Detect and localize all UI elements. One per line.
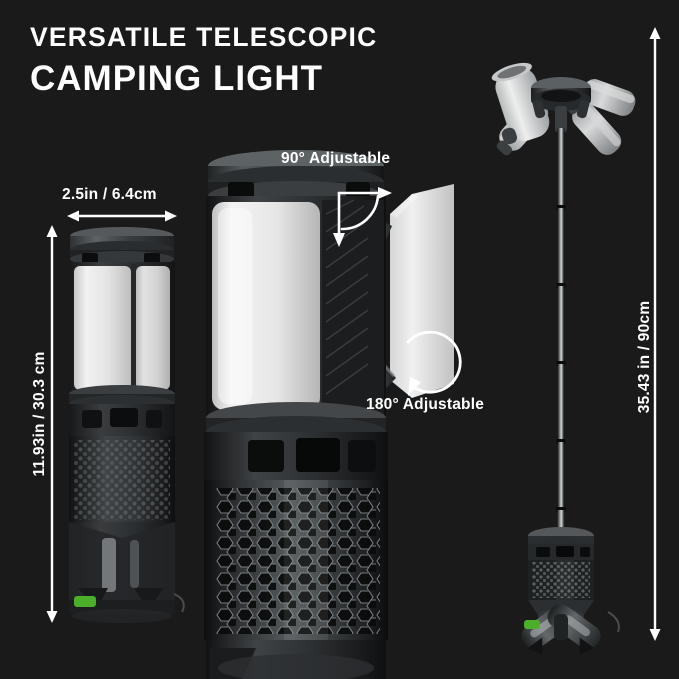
callout-adjustable-180: 180° Adjustable bbox=[366, 396, 484, 414]
collapsed-width-label: 2.5in / 6.4cm bbox=[62, 186, 157, 204]
headline-line-1: VERSATILE TELESCOPIC bbox=[30, 22, 377, 52]
right-angle-arrow-icon bbox=[330, 185, 410, 265]
extended-pole-lamp-image bbox=[462, 22, 652, 642]
callout-adjustable-90: 90° Adjustable bbox=[281, 150, 390, 168]
tripod-legs bbox=[517, 599, 619, 659]
extended-height-label: 35.43 in / 90cm bbox=[636, 257, 654, 457]
curved-arrow-icon bbox=[396, 332, 466, 404]
product-infographic: VERSATILE TELESCOPIC CAMPING LIGHT bbox=[0, 0, 679, 679]
collapsed-width-arrow bbox=[66, 206, 178, 226]
charge-indicator-right bbox=[524, 620, 540, 629]
charge-indicator-left bbox=[74, 596, 96, 607]
telescopic-pole bbox=[556, 128, 566, 534]
collapsed-height-label: 11.93in / 30.3 cm bbox=[31, 314, 49, 514]
headline-block: VERSATILE TELESCOPIC CAMPING LIGHT bbox=[30, 22, 377, 100]
collapsed-lantern-image bbox=[60, 222, 185, 632]
headline-line-2: CAMPING LIGHT bbox=[30, 58, 377, 100]
control-button-3 bbox=[348, 440, 376, 472]
control-button-2 bbox=[296, 438, 340, 472]
control-button-1 bbox=[248, 440, 284, 472]
